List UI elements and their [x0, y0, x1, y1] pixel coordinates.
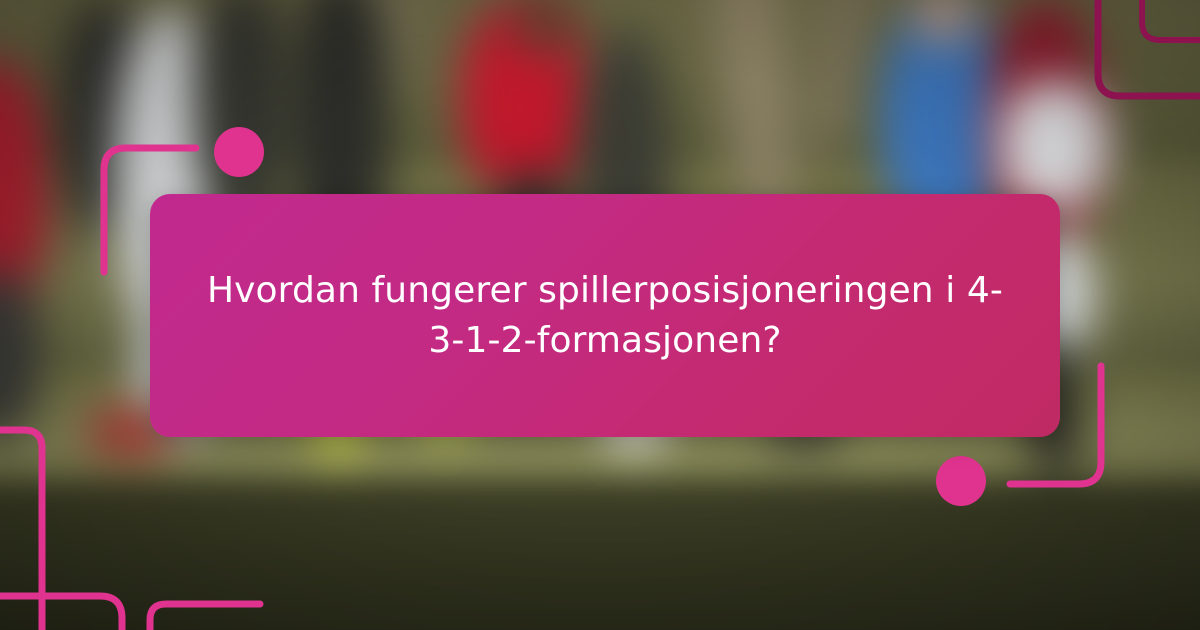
title-card: Hvordan fungerer spillerposisjoneringen …	[150, 194, 1060, 437]
screenshot-canvas: Hvordan fungerer spillerposisjoneringen …	[0, 0, 1200, 630]
page-title: Hvordan fungerer spillerposisjoneringen …	[202, 266, 1008, 365]
